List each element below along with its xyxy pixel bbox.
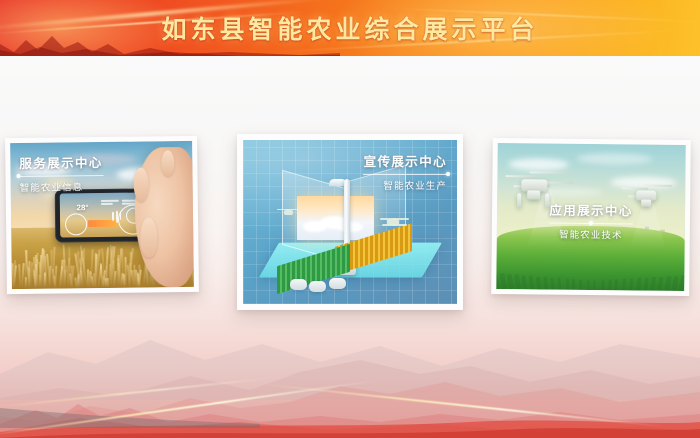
temperature-readout: 28° — [76, 203, 88, 212]
drone-blade-2 — [642, 184, 672, 186]
card-service-image: 28° 服务展示中心 智能农业信息 — [10, 141, 194, 289]
card-service-subtitle: 智能农业信息 — [20, 178, 104, 193]
header-banner: 如东县智能农业综合展示平台 — [0, 0, 700, 56]
drone-rotor-right — [393, 218, 409, 219]
card-service-divider — [20, 174, 104, 176]
drone-blade-1 — [505, 175, 539, 177]
drone-blade-1 — [622, 187, 648, 189]
card-application-caption: 应用展示中心 智能农业技术 — [497, 199, 685, 241]
hud-tick-1 — [112, 212, 114, 221]
card-application-title: 应用展示中心 — [497, 199, 685, 220]
card-application-display-center[interactable]: 应用展示中心 智能农业技术 — [491, 138, 691, 296]
cloud-1 — [509, 158, 569, 171]
page-title: 如东县智能农业综合展示平台 — [0, 0, 700, 56]
hud-status-bar — [88, 220, 118, 227]
drone-rotor-rear-right — [393, 224, 407, 225]
card-service-display-center[interactable]: 28° 服务展示中心 智能农业信息 — [5, 136, 199, 294]
hay-roll-2 — [309, 281, 326, 292]
drone-body — [284, 210, 293, 215]
card-promotion-title: 宣传展示中心 — [363, 151, 447, 170]
card-service-caption: 服务展示中心 智能农业信息 — [19, 152, 103, 194]
card-promotion-caption: 宣传展示中心 智能农业生产 — [363, 151, 447, 192]
card-service-title: 服务展示中心 — [19, 152, 103, 172]
panel-cloud-2 — [303, 221, 327, 232]
hay-roll-1 — [290, 279, 307, 290]
card-application-divider — [549, 222, 633, 224]
drone-left — [277, 206, 300, 217]
hud-tick-2 — [116, 211, 118, 223]
card-promotion-image: 宣传展示中心 智能农业生产 — [243, 140, 457, 304]
background-grey-streak — [0, 402, 700, 428]
drone-right — [380, 215, 410, 229]
hud-line-1 — [101, 200, 119, 202]
card-promotion-divider — [363, 174, 447, 175]
thumb — [161, 150, 174, 176]
hud-ring-left — [65, 213, 87, 235]
card-promotion-subtitle: 智能农业生产 — [363, 178, 447, 192]
card-application-image: 应用展示中心 智能农业技术 — [496, 143, 686, 291]
card-application-subtitle: 智能农业技术 — [497, 226, 685, 242]
drone-camera — [527, 191, 540, 200]
app-stage: 如东县智能农业综合展示平台 28° — [0, 0, 700, 438]
drone-blade-2 — [529, 172, 569, 174]
sky-panel — [297, 196, 374, 240]
card-promotion-display-center[interactable]: 宣传展示中心 智能农业生产 — [237, 134, 463, 310]
hud-line-2 — [101, 203, 113, 205]
finger-2 — [140, 217, 157, 257]
hay-roll-3 — [329, 278, 346, 289]
hud-line-3 — [122, 200, 136, 202]
drone-rotor-right — [287, 209, 300, 210]
